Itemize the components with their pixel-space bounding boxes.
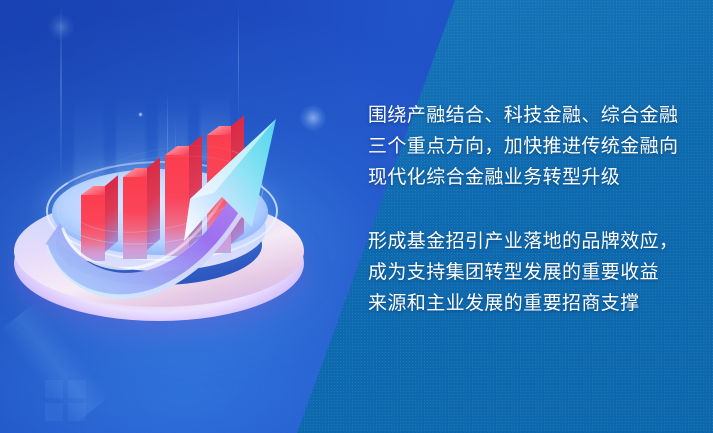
paragraph-2-line-3: 来源和主业发展的重要招商支撑 — [368, 288, 678, 319]
paragraph-2: 形成基金招引产业落地的品牌效应， 成为支持集团转型发展的重要收益 来源和主业发展… — [368, 226, 678, 319]
banner-root: 围绕产融结合、科技金融、综合金融 三个重点方向，加快推进传统金融向 现代化综合金… — [0, 0, 713, 433]
paragraph-2-line-2: 成为支持集团转型发展的重要收益 — [368, 257, 678, 288]
copy-block: 围绕产融结合、科技金融、综合金融 三个重点方向，加快推进传统金融向 现代化综合金… — [368, 100, 678, 319]
paragraph-1-line-3: 现代化综合金融业务转型升级 — [368, 162, 678, 193]
paragraph-1-line-1: 围绕产融结合、科技金融、综合金融 — [368, 100, 678, 131]
paragraph-1-line-2: 三个重点方向，加快推进传统金融向 — [368, 131, 678, 162]
paragraph-2-line-1: 形成基金招引产业落地的品牌效应， — [368, 226, 678, 257]
paragraph-1: 围绕产融结合、科技金融、综合金融 三个重点方向，加快推进传统金融向 现代化综合金… — [368, 100, 678, 193]
spark-dot — [48, 14, 74, 40]
illustration-3d-chart — [8, 95, 318, 345]
rising-arrow-icon — [8, 95, 318, 345]
